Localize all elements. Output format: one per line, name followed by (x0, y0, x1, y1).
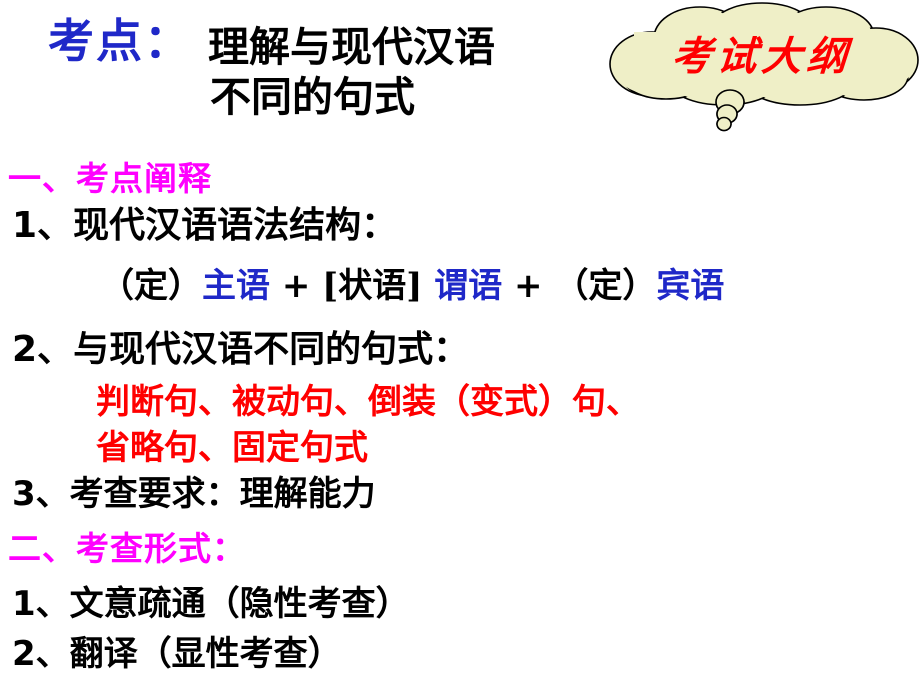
item-text: 现代汉语语法结构： (73, 205, 397, 246)
formula-part-adverbial: [状语] (322, 266, 422, 306)
slide-canvas: 考点： 理解与现代汉语 不同的句式 (0, 0, 920, 690)
item-text: 考查要求：理解能力 (70, 474, 376, 514)
item-text: 翻译（显性考查） (70, 634, 342, 674)
section-heading-2: 二、考查形式： (8, 522, 246, 570)
formula-part-predicate: 谓语 (434, 266, 502, 306)
item-text: 与现代汉语不同的句式： (73, 329, 469, 370)
title-keyword: 考点： (48, 18, 192, 64)
item-number: 1、 (12, 205, 73, 246)
title-line-2: 不同的句式 (210, 72, 495, 122)
section1-item-3: 3、考查要求：理解能力 (12, 466, 376, 515)
slide-title: 考点： 理解与现代汉语 不同的句式 (40, 14, 600, 149)
callout-text: 考试大纲 (602, 24, 920, 82)
formula-part-object: 宾语 (656, 266, 724, 306)
item-number: 1、 (12, 584, 70, 624)
formula-part-ding2: （定） (554, 266, 656, 306)
exam-outline-callout: 考试大纲 (604, 2, 920, 142)
formula-part-subject: 主语 (202, 266, 270, 306)
grammar-formula: （定）主语 + [状语] 谓语 + （定）宾语 (100, 258, 724, 307)
section-heading-1: 一、考点阐释 (8, 152, 212, 200)
formula-plus-1: + (270, 266, 322, 306)
item-number: 2、 (12, 329, 73, 370)
item-number: 3、 (12, 474, 70, 514)
formula-plus-2: + (502, 266, 554, 306)
formula-space-1 (422, 266, 434, 306)
item-text: 文意疏通（隐性考查） (70, 584, 410, 624)
sentence-types-line-1: 判断句、被动句、倒装（变式）句、 (96, 374, 640, 423)
section2-item-1: 1、文意疏通（隐性考查） (12, 576, 410, 625)
formula-part-ding1: （定） (100, 266, 202, 306)
title-main: 理解与现代汉语 不同的句式 (208, 22, 495, 122)
section1-item-2: 2、与现代汉语不同的句式： (12, 320, 469, 372)
item-number: 2、 (12, 634, 70, 674)
section2-item-2: 2、翻译（显性考查） (12, 626, 342, 675)
section1-item-1: 1、现代汉语语法结构： (12, 196, 397, 248)
title-line-1: 理解与现代汉语 (208, 22, 495, 72)
sentence-types-line-2: 省略句、固定句式 (96, 420, 368, 469)
